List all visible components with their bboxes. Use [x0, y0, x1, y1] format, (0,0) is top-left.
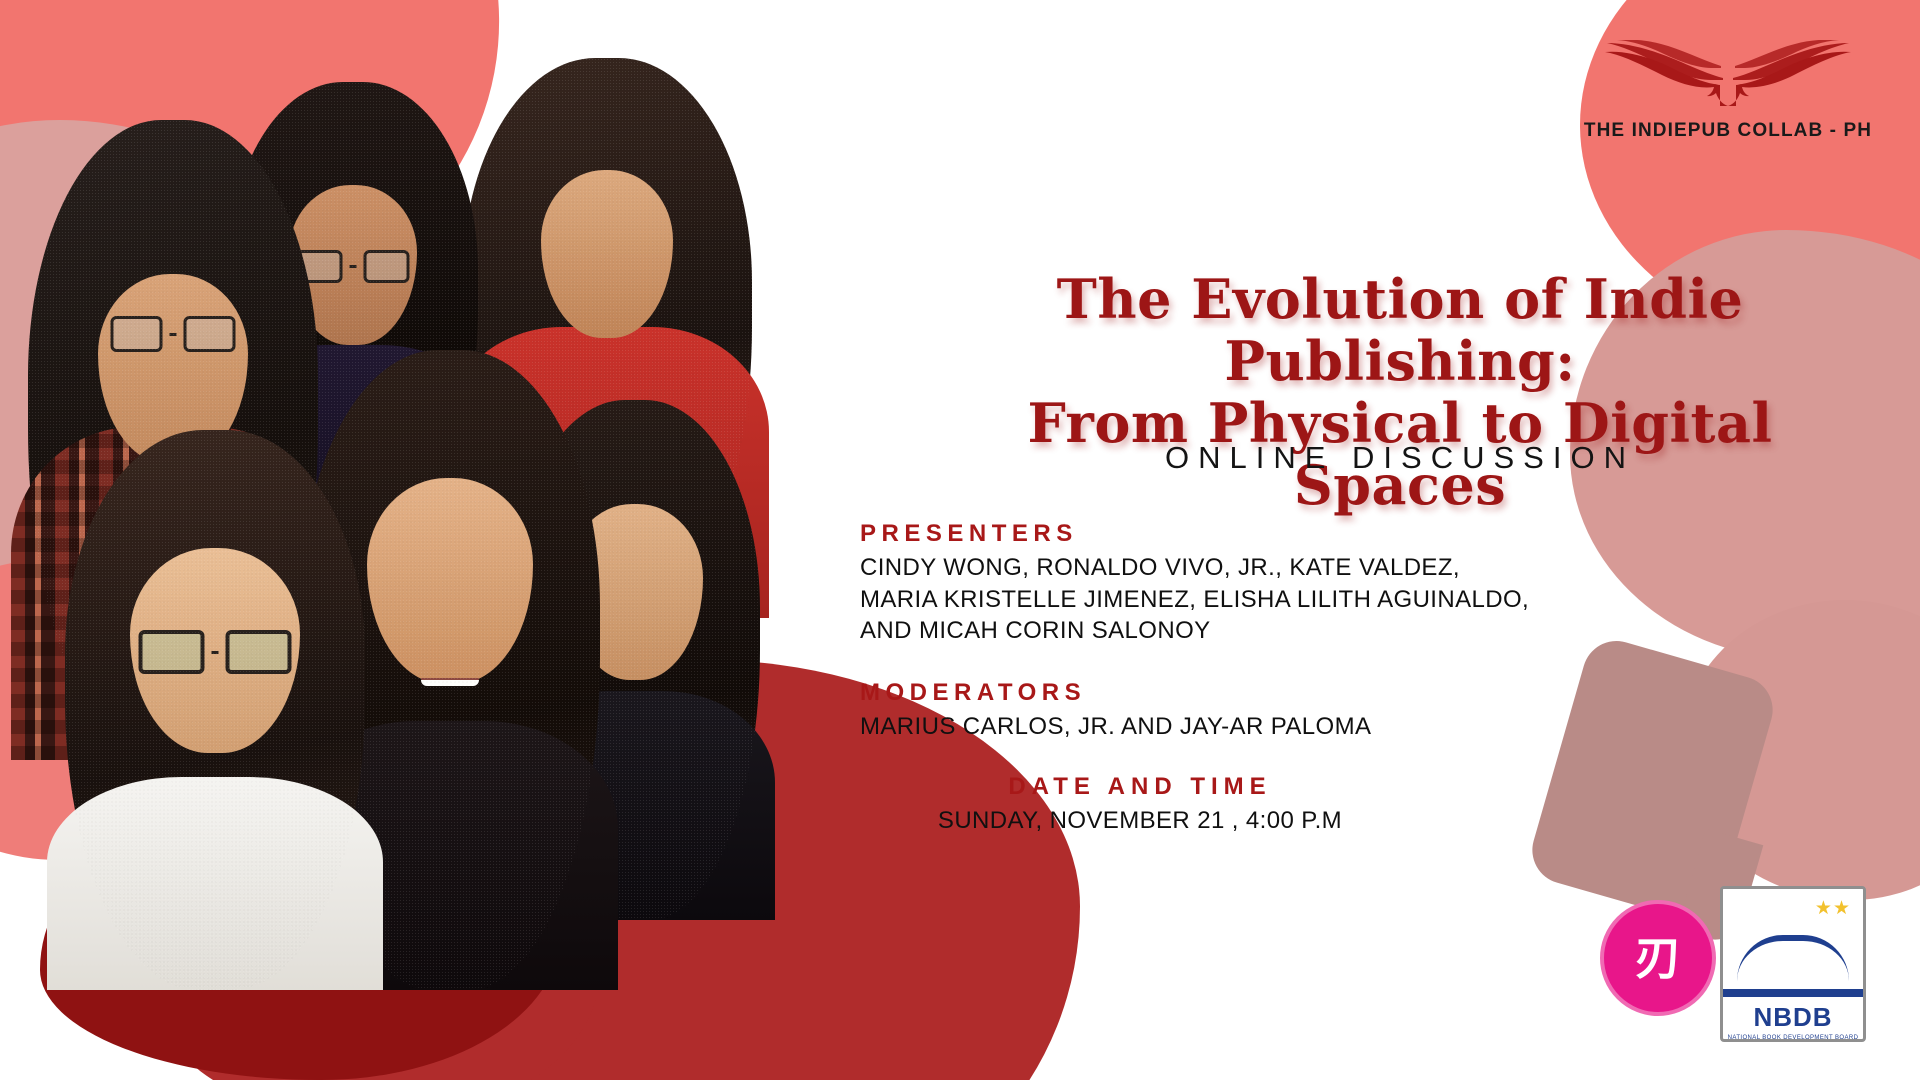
eyeglasses-icon — [139, 630, 292, 674]
page-title: The Evolution of Indie Publishing: From … — [960, 268, 1840, 516]
nbdb-full-name: NATIONAL BOOK DEVELOPMENT BOARD — [1723, 1035, 1863, 1041]
presenters-photo-collage — [0, 0, 940, 1080]
portrait-photo — [65, 430, 365, 990]
event-poster: THE INDIEPUB COLLAB - PH The Evolution o… — [0, 0, 1920, 1080]
moderators-line: MARIUS CARLOS, JR. AND JAY-AR PALOMA — [860, 711, 1680, 743]
stars-icon: ★★ — [1815, 899, 1851, 918]
title-line-1: The Evolution of Indie Publishing: — [1057, 267, 1744, 393]
eyeglasses-icon — [111, 316, 236, 352]
eyeglasses-icon — [297, 250, 410, 283]
portrait-body — [47, 777, 383, 990]
portrait-smile — [421, 680, 479, 686]
datetime-block: DATE AND TIME SUNDAY, NOVEMBER 21 , 4:00… — [860, 773, 1420, 837]
nbdb-logo: ★★ NBDB NATIONAL BOOK DEVELOPMENT BOARD — [1720, 886, 1866, 1042]
moderators-names: MARIUS CARLOS, JR. AND JAY-AR PALOMA — [860, 711, 1680, 743]
subtitle: ONLINE DISCUSSION — [960, 440, 1840, 476]
presenters-block: PRESENTERS CINDY WONG, RONALDO VIVO, JR.… — [860, 520, 1680, 647]
event-details: PRESENTERS CINDY WONG, RONALDO VIVO, JR.… — [860, 520, 1680, 836]
presenters-line: AND MICAH CORIN SALONOY — [860, 615, 1680, 647]
datetime-heading: DATE AND TIME — [860, 773, 1420, 801]
presenters-names: CINDY WONG, RONALDO VIVO, JR., KATE VALD… — [860, 552, 1680, 647]
datetime-value: SUNDAY, NOVEMBER 21 , 4:00 P.M — [860, 805, 1420, 837]
datetime-line: SUNDAY, NOVEMBER 21 , 4:00 P.M — [860, 805, 1420, 837]
presenters-line: CINDY WONG, RONALDO VIVO, JR., KATE VALD… — [860, 552, 1680, 584]
nbdb-divider — [1723, 989, 1863, 997]
presenters-heading: PRESENTERS — [860, 520, 1680, 548]
nbdb-acronym: NBDB — [1723, 1002, 1863, 1033]
dancing-figure-glyph: 刃 — [1635, 935, 1681, 981]
dancing-figure-icon: 刃 — [1600, 900, 1716, 1016]
partner-badges: 刃 ★★ NBDB NATIONAL BOOK DEVELOPMENT BOAR… — [1590, 880, 1890, 1070]
moderators-block: MODERATORS MARIUS CARLOS, JR. AND JAY-AR… — [860, 679, 1680, 743]
presenters-line: MARIA KRISTELLE JIMENEZ, ELISHA LILITH A… — [860, 584, 1680, 616]
moderators-heading: MODERATORS — [860, 679, 1680, 707]
